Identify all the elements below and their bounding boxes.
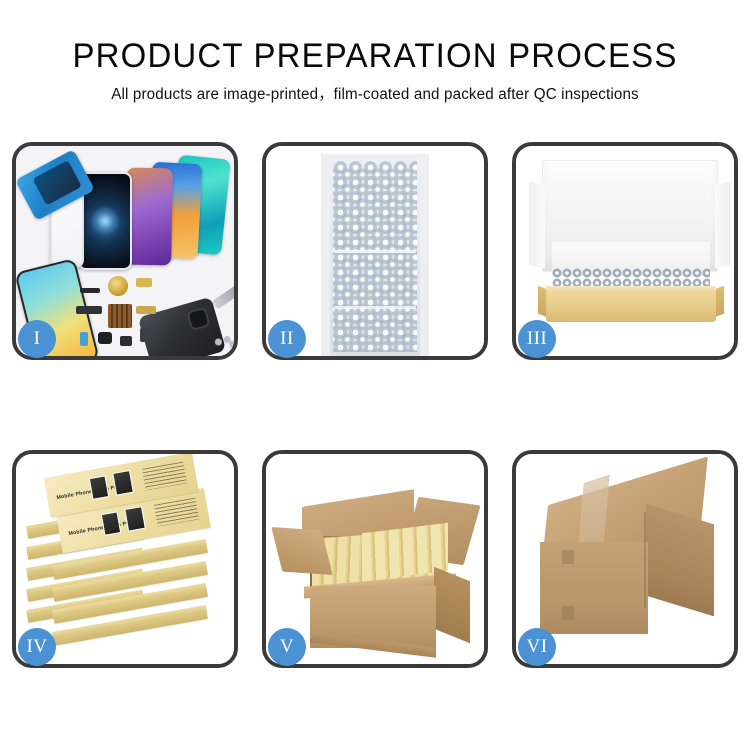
- screws-group: [214, 336, 234, 348]
- retail-box-back-screen-2: [112, 470, 134, 496]
- retail-box-back-screen-1: [89, 475, 110, 500]
- step-badge-2: II: [268, 320, 306, 358]
- step-panel-1: I: [12, 142, 238, 360]
- carton-handle-notch-bottom: [562, 606, 574, 620]
- flex-cable-part-2: [136, 306, 156, 314]
- wireless-coil-part: [108, 276, 128, 296]
- mailer-front-panel: [546, 292, 716, 322]
- flex-cable-part-3: [76, 306, 102, 314]
- sealed-carton-side: [646, 504, 714, 617]
- step-panel-5: V: [262, 450, 488, 668]
- step-badge-6: VI: [518, 628, 556, 666]
- process-steps-grid: I II III: [12, 142, 738, 668]
- sealed-carton-front: [540, 542, 648, 634]
- step-panel-4: Mobile Phone Spare Parts Mobile Phone Sp…: [12, 450, 238, 668]
- step-panel-2: II: [262, 142, 488, 360]
- bubble-grid-back: [333, 167, 417, 352]
- page-subtitle: All products are image-printed，film-coat…: [8, 85, 743, 105]
- pouch-seam-lower: [334, 306, 416, 309]
- step-panel-3: III: [512, 142, 738, 360]
- retail-box-front-screen-2: [124, 506, 146, 532]
- battery-part: [140, 328, 150, 342]
- sealed-carton-corner-seam: [644, 512, 646, 608]
- bubble-wrap-pouch: [321, 154, 429, 356]
- pouch-seam-upper: [334, 250, 416, 253]
- carton-handle-notch-top: [562, 550, 574, 564]
- flex-cable-part-1: [136, 278, 152, 287]
- carton-side-panel: [434, 567, 470, 644]
- step-badge-5: V: [268, 628, 306, 666]
- small-component-1: [80, 332, 88, 346]
- step-badge-4: IV: [18, 628, 56, 666]
- phone-screen-purple: [125, 168, 173, 266]
- page-header: PRODUCT PREPARATION PROCESS All products…: [0, 0, 750, 105]
- small-component-2: [120, 336, 132, 346]
- camera-module-part: [98, 332, 112, 344]
- speaker-part: [80, 288, 100, 293]
- page-title: PRODUCT PREPARATION PROCESS: [11, 36, 739, 76]
- step-panel-6: VI: [512, 450, 738, 668]
- retail-box-front-screen-1: [101, 511, 122, 536]
- step-badge-1: I: [18, 320, 56, 358]
- step-badge-3: III: [518, 320, 556, 358]
- chip-grid-part: [108, 304, 132, 328]
